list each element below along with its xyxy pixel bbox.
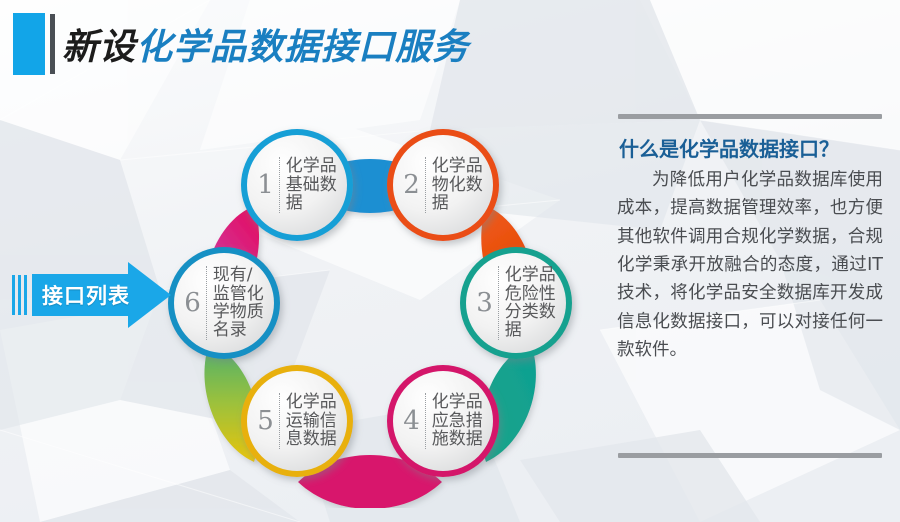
callout-label: 接口列表 — [42, 262, 130, 328]
interface-list-callout[interactable]: 接口列表 — [6, 262, 171, 328]
page-title: 新设 化学品数据接口服务 — [62, 14, 469, 74]
node-face-1[interactable] — [247, 135, 347, 235]
description-panel: 什么是化学品数据接口？ 为降低用户化学品数据库使用成本，提高数据管理效率，也方便… — [615, 100, 885, 470]
panel-heading: 什么是化学品数据接口？ — [619, 133, 885, 162]
panel-paragraph: 为降低用户化学品数据库使用成本，提高数据管理效率，也方便其他软件调用合规化学数据… — [617, 166, 883, 364]
node-face-5[interactable] — [247, 371, 347, 471]
header-accent-block — [13, 13, 45, 75]
page-title-main: 化学品数据接口服务 — [136, 18, 469, 70]
callout-stripes-icon — [12, 275, 29, 315]
slide-header: 新设 化学品数据接口服务 — [0, 0, 900, 92]
slide-canvas: 新设 化学品数据接口服务 接口列表 — [0, 0, 900, 522]
header-accent-rule — [50, 14, 55, 74]
page-title-prefix: 新设 — [62, 18, 136, 70]
node-face-2[interactable] — [393, 135, 493, 235]
panel-rule-bottom — [618, 453, 882, 458]
panel-rule-top — [618, 114, 882, 119]
node-face-6[interactable] — [174, 253, 274, 353]
node-face-4[interactable] — [393, 371, 493, 471]
node-face-3[interactable] — [466, 253, 566, 353]
interface-cycle-diagram: 1 化学品 基础数 据 2 化学品 物化数 据 3 化学品 危险性 分类数 据 … — [150, 98, 590, 508]
